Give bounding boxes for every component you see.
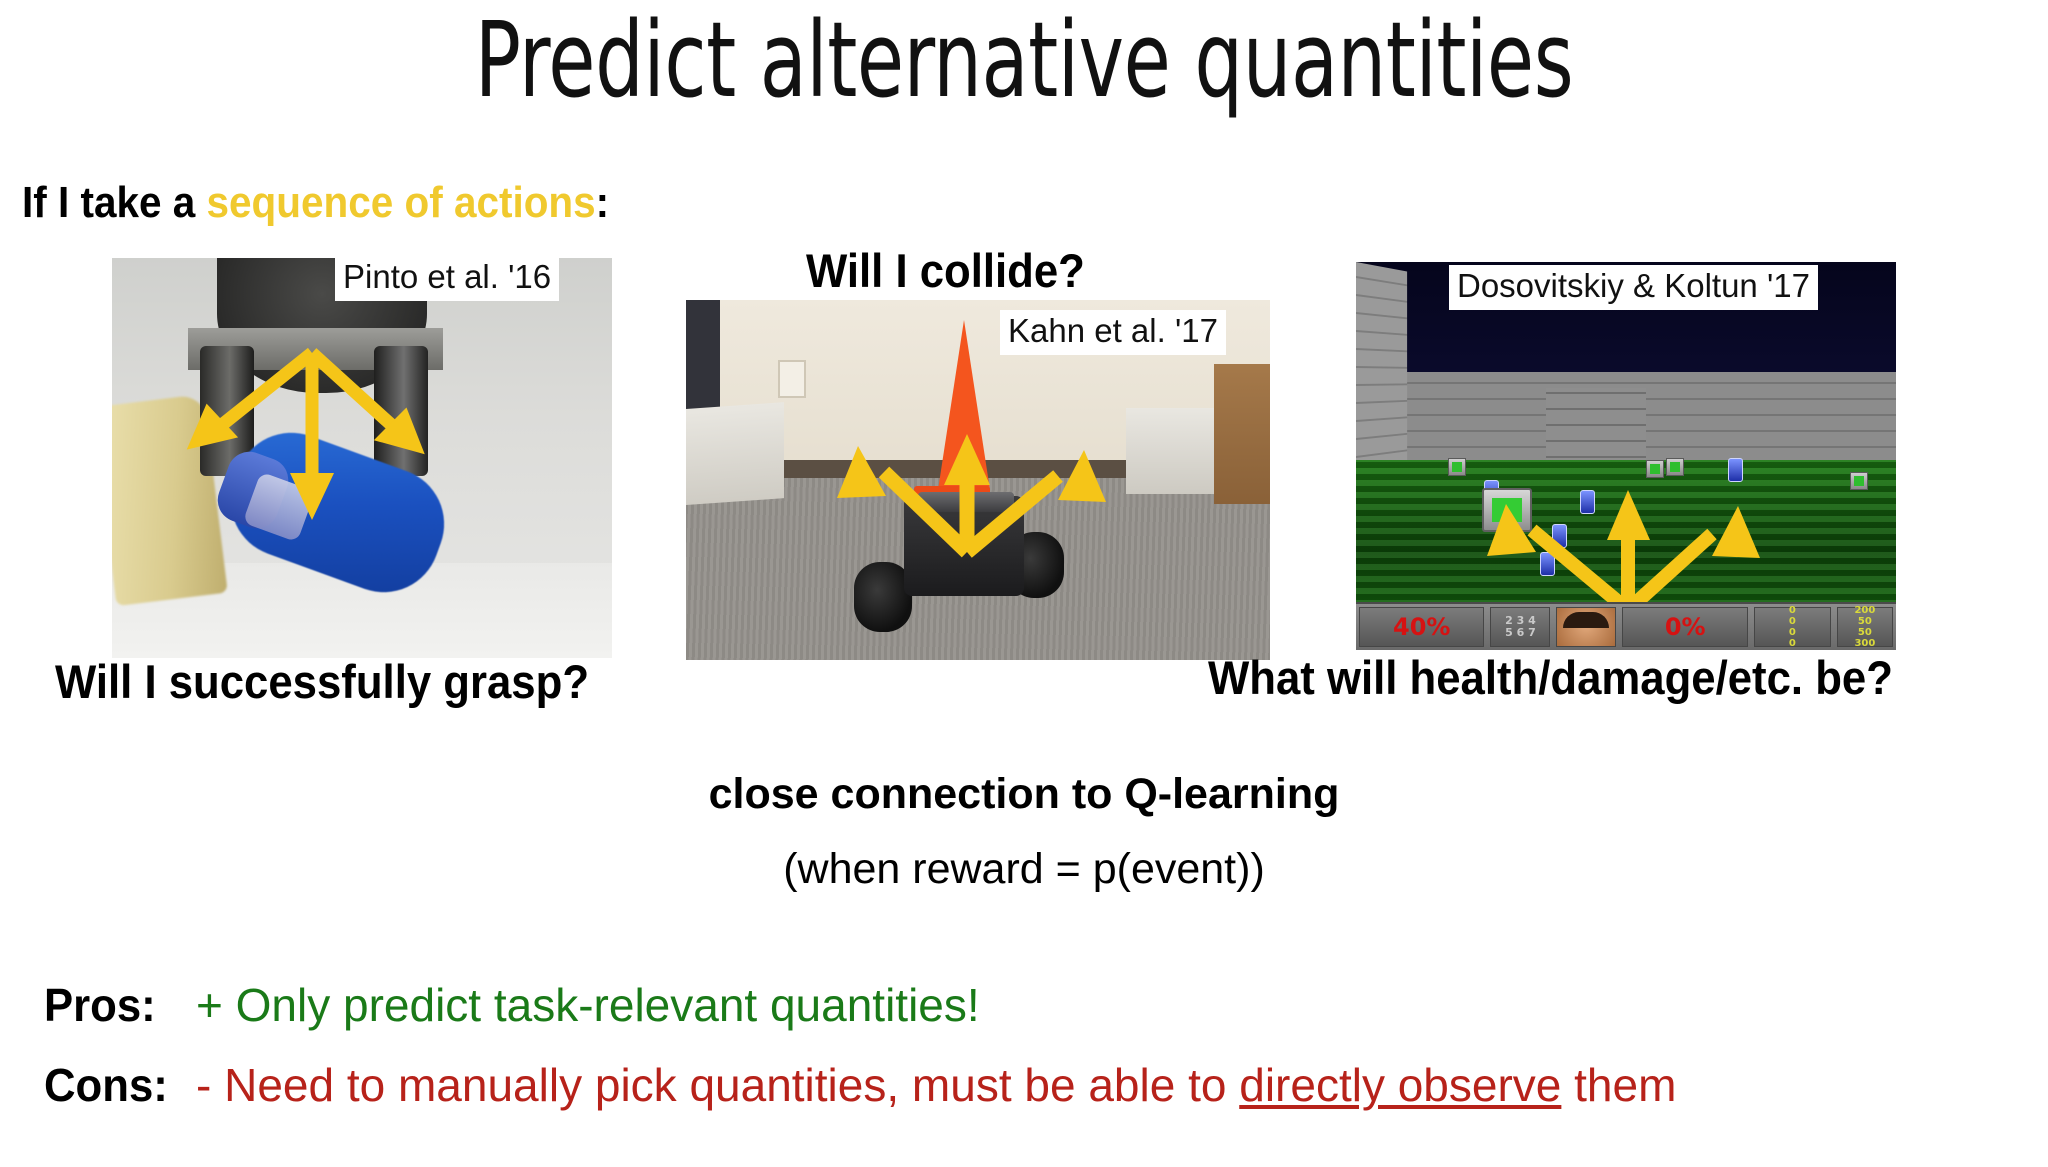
- citation-dosovitskiy: Dosovitskiy & Koltun '17: [1449, 265, 1818, 310]
- pros-text: + Only predict task-relevant quantities!: [196, 979, 980, 1031]
- hud-weapon-slots: 2 3 4 5 6 7: [1490, 607, 1550, 647]
- slide-canvas: Predict alternative quantities If I take…: [0, 0, 2048, 1167]
- medkit-large: [1482, 488, 1532, 532]
- gripper-finger-right: [374, 346, 428, 476]
- hud-ammo-row: 0: [1789, 638, 1796, 649]
- subhead: If I take a sequence of actions:: [22, 178, 609, 228]
- citation-kahn: Kahn et al. '17: [1000, 310, 1226, 355]
- wooden-door: [1214, 364, 1270, 504]
- box-right: [1126, 408, 1226, 494]
- health-vial: [1580, 490, 1595, 514]
- question-collide: Will I collide?: [806, 243, 1085, 298]
- hud-weapon-row-bottom: 5 6 7: [1505, 627, 1536, 639]
- hud-player-face-hair: [1563, 612, 1609, 628]
- page-title: Predict alternative quantities: [184, 0, 1863, 127]
- medkit-item: [1666, 458, 1684, 476]
- dark-doorway: [686, 300, 720, 420]
- hud-ammo-counts: 0 0 0 0: [1754, 607, 1831, 647]
- hud-ammo-max-row: 200: [1854, 605, 1875, 616]
- grasp-photo: [112, 258, 612, 658]
- hud-ammo-max-row: 50: [1858, 627, 1872, 638]
- hud-ammo-max-row: 300: [1854, 638, 1875, 649]
- hud-health-value: 40%: [1359, 607, 1484, 647]
- hud-ammo-row: 0: [1789, 605, 1796, 616]
- subhead-suffix: :: [596, 178, 609, 227]
- traffic-cone: [938, 320, 990, 490]
- pros-row: Pros:+ Only predict task-relevant quanti…: [44, 978, 980, 1032]
- question-health: What will health/damage/etc. be?: [1208, 650, 1893, 705]
- stone-wall-left: [1356, 262, 1407, 492]
- health-vial: [1552, 524, 1567, 548]
- hud-ammo-row: 0: [1789, 616, 1796, 627]
- hud-player-face: [1556, 607, 1616, 647]
- doom-hud: 40% 2 3 4 5 6 7 0% 0 0 0 0 200 50 50 300: [1356, 602, 1896, 650]
- car-electronics-deck: [918, 492, 1014, 512]
- cons-text-after: them: [1561, 1059, 1676, 1111]
- cons-text-before: - Need to manually pick quantities, must…: [196, 1059, 1239, 1111]
- subhead-prefix: If I take a: [22, 178, 207, 227]
- cons-row: Cons:- Need to manually pick quantities,…: [44, 1058, 1676, 1112]
- pros-label: Pros:: [44, 978, 188, 1032]
- medkit-item: [1646, 460, 1664, 478]
- cons-label: Cons:: [44, 1058, 188, 1112]
- hud-ammo-max-counts: 200 50 50 300: [1837, 607, 1893, 647]
- cons-text-underlined: directly observe: [1239, 1059, 1561, 1111]
- wall-outlet: [778, 360, 806, 398]
- box-left: [686, 402, 784, 506]
- health-vial: [1728, 458, 1743, 482]
- note-line-1: close connection to Q-learning: [0, 770, 2048, 819]
- medkit-item: [1850, 472, 1868, 490]
- health-vial: [1540, 552, 1555, 576]
- hud-ammo-row: 0: [1789, 627, 1796, 638]
- medkit-item: [1448, 458, 1466, 476]
- doom-photo: 40% 2 3 4 5 6 7 0% 0 0 0 0 200 50 50 300: [1356, 262, 1896, 650]
- hud-ammo-max-row: 50: [1858, 616, 1872, 627]
- citation-pinto: Pinto et al. '16: [335, 256, 559, 301]
- question-grasp: Will I successfully grasp?: [55, 654, 589, 709]
- acid-floor: [1356, 460, 1896, 612]
- note-line-2: (when reward = p(event)): [0, 845, 2048, 894]
- subhead-highlight: sequence of actions: [207, 178, 596, 227]
- hud-armor-value: 0%: [1622, 607, 1747, 647]
- cons-text: - Need to manually pick quantities, must…: [196, 1059, 1676, 1111]
